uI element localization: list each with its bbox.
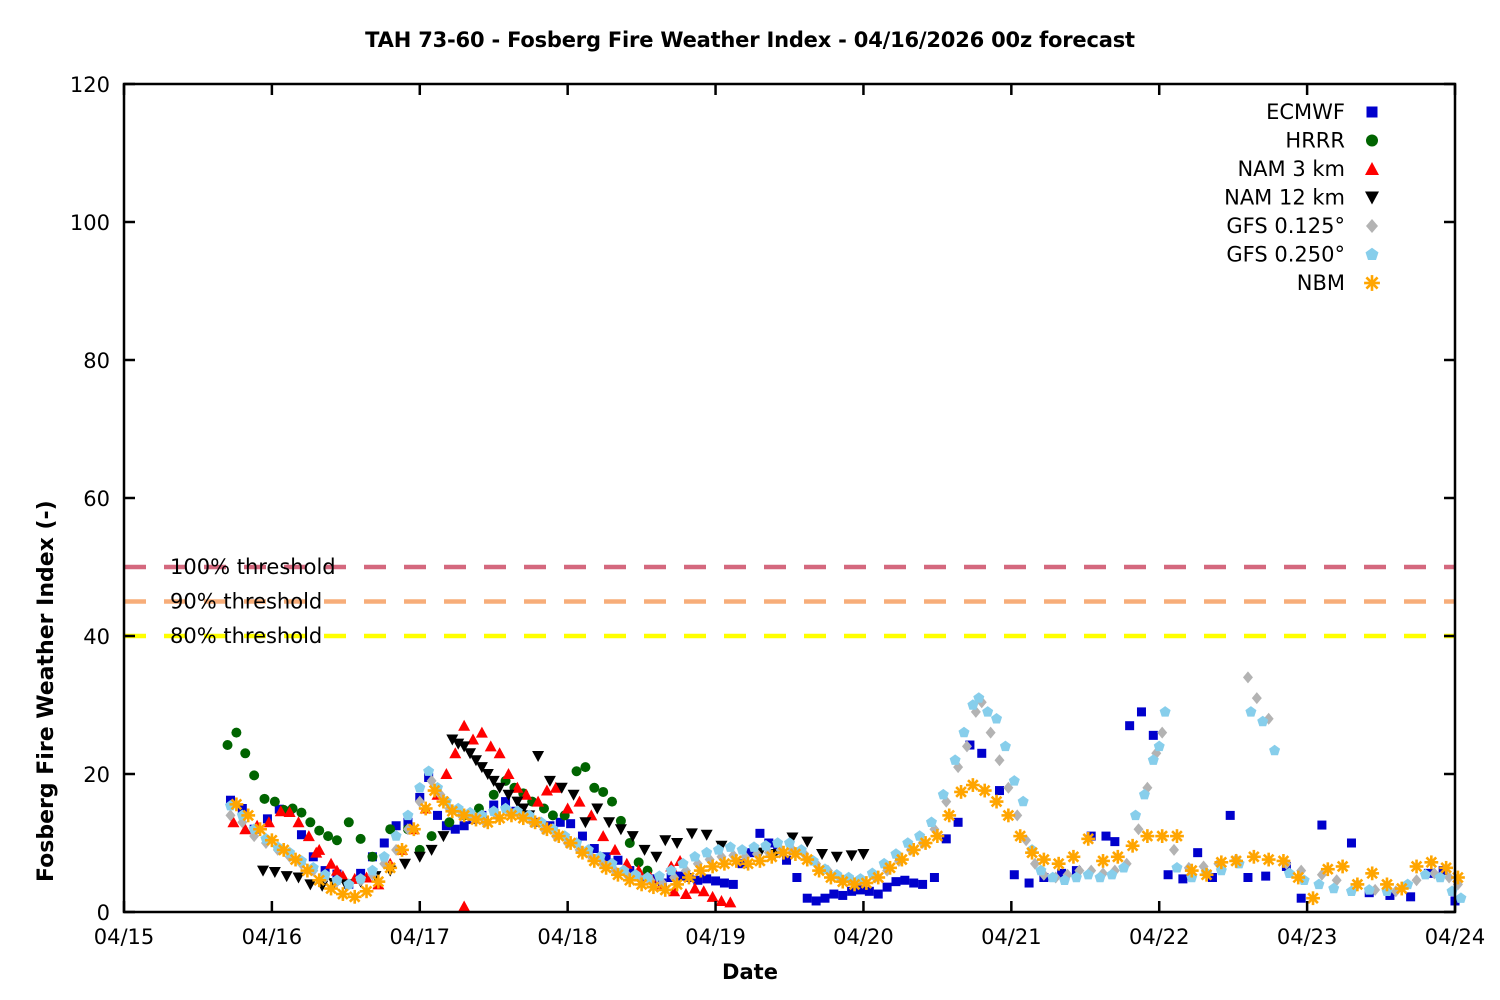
data-point [982,706,993,716]
data-point [587,854,601,868]
data-point [611,868,625,882]
data-point [1025,846,1039,860]
data-point [371,875,385,889]
x-tick-label: 04/21 [981,925,1042,949]
data-point [1155,829,1169,843]
data-point [505,809,519,823]
data-point [426,845,438,856]
legend-marker-pentagon-icon [1366,248,1379,260]
data-point [1395,882,1409,896]
data-point [1052,857,1066,871]
data-point [1277,854,1291,868]
x-tick-label: 04/24 [1425,925,1486,949]
data-point [1025,879,1034,888]
data-point [777,846,791,860]
data-point [1252,692,1262,704]
data-point [1170,829,1184,843]
data-point [1171,862,1182,872]
data-point [494,747,506,758]
data-point [1134,823,1144,835]
data-point [445,804,459,818]
data-point [812,896,821,905]
data-point [229,797,243,811]
data-point [895,853,909,867]
data-point [572,766,582,776]
data-point [1226,811,1235,820]
data-point [706,860,720,874]
data-point [414,782,425,792]
data-point [942,809,956,823]
data-point [671,838,683,849]
data-point [1243,671,1253,683]
data-point [741,857,755,871]
data-point [241,809,255,823]
data-point [1365,866,1379,880]
data-point [493,811,507,825]
data-point [1037,853,1051,867]
data-point [990,795,1004,809]
data-point [954,818,963,827]
data-point [900,876,909,885]
data-point [344,817,354,827]
legend-marker-asterisk-icon [1364,275,1380,291]
data-point [954,785,968,799]
data-point [231,728,241,738]
data-point [995,786,1004,795]
data-point [654,870,665,880]
legend-label-gfs-0-125: GFS 0.125° [1226,214,1345,238]
threshold-label-50: 100% threshold [170,555,336,579]
data-point [836,875,850,889]
data-point [1169,844,1179,856]
data-point [966,778,980,792]
data-point [635,878,649,892]
data-point [395,843,409,857]
legend-label-ecmwf: ECMWF [1266,100,1345,124]
data-point [666,865,677,875]
data-point [689,851,700,861]
data-point [670,878,684,892]
data-point [1193,848,1202,857]
data-point [437,831,449,842]
data-point [609,844,621,855]
data-point [428,784,442,798]
data-point [552,829,566,843]
data-point [1185,864,1199,878]
data-point [831,852,843,863]
data-point [348,890,362,904]
data-point [812,864,826,878]
data-point [724,896,736,907]
data-point [1261,872,1270,881]
data-point [360,884,374,898]
data-point [725,841,736,851]
data-point [1410,860,1424,874]
data-point [930,873,939,882]
x-tick-label: 04/16 [242,925,303,949]
legend-marker-triangle-up-icon [1365,162,1379,175]
data-point [701,830,713,841]
data-point [1178,874,1187,883]
data-point [293,816,305,827]
data-point [755,829,764,838]
data-point [599,861,613,875]
data-point [367,865,378,875]
data-point [973,692,984,702]
threshold-lines: 100% threshold90% threshold80% threshold [124,555,1455,648]
data-point [325,858,337,869]
data-point [312,873,326,887]
data-point [918,880,927,889]
data-point [566,819,575,828]
data-point [481,815,495,829]
data-point [460,821,469,830]
data-point [1245,706,1256,716]
data-point [803,894,812,903]
data-point [800,853,814,867]
data-point [1243,873,1252,882]
data-point [265,833,279,847]
data-point [356,834,366,844]
data-point [824,871,838,885]
data-point [1001,809,1015,823]
data-point [694,864,708,878]
data-point [223,740,233,750]
data-point [986,727,996,739]
legend-marker-diamond-icon [1366,219,1378,233]
data-point [603,817,615,828]
data-point [1000,741,1011,751]
data-point [647,880,661,894]
data-point [1126,839,1140,853]
data-point [816,849,828,860]
data-point [1412,874,1422,886]
data-point [576,846,590,860]
data-point [686,828,698,839]
data-point [336,887,350,901]
data-point [564,836,578,850]
data-point [503,768,515,779]
data-point [444,817,454,827]
y-tick-label: 0 [97,901,110,925]
data-point [701,847,712,857]
data-point [857,849,869,860]
data-point [737,844,748,854]
data-point [860,876,874,890]
data-point [1317,821,1326,830]
data-point [259,794,269,804]
data-point [419,802,433,816]
data-point [1010,870,1019,879]
data-point [707,891,719,902]
data-point [1364,884,1375,894]
data-point [540,822,554,836]
data-point [1297,894,1306,903]
data-point [414,852,426,863]
data-point [297,830,306,839]
data-point [257,866,269,877]
data-point [1164,870,1173,879]
data-point [1451,871,1465,885]
data-point [874,890,883,899]
data-point [907,843,921,857]
data-point [402,810,413,820]
data-point [1013,829,1027,843]
data-point [1262,853,1276,867]
data-point [423,765,434,775]
legend-label-hrrr: HRRR [1285,129,1345,153]
data-point [718,857,732,871]
data-point [680,888,692,899]
data-point [516,811,530,825]
data-point [682,871,696,885]
data-point [1229,854,1243,868]
data-point [711,876,720,885]
data-point [1406,892,1415,901]
data-point [820,894,829,903]
x-tick-label: 04/20 [833,925,894,949]
data-point [1347,839,1356,848]
data-point [977,749,986,758]
y-tick-label: 20 [83,763,110,787]
data-point [658,883,672,897]
data-point [991,713,1002,723]
y-tick-label: 40 [83,625,110,649]
data-point [469,813,483,827]
data-point [1214,855,1228,869]
data-point [1096,854,1110,868]
series-nbm [229,778,1464,905]
data-point [548,810,558,820]
data-point [772,837,783,847]
data-point [541,785,553,796]
data-point [1291,871,1305,885]
data-point [485,740,497,751]
data-point [1160,706,1171,716]
data-point [253,822,267,836]
data-point [919,836,933,850]
data-point [1157,727,1167,739]
legend-marker-triangle-down-icon [1365,192,1379,205]
data-point [427,831,437,841]
y-tick-label: 120 [70,73,110,97]
data-point [1200,868,1214,882]
data-point [698,885,710,896]
series-gfs-0-250 [225,692,1466,903]
data-point [458,720,470,731]
data-point [1110,837,1119,846]
data-point [615,824,627,835]
data-point [323,831,333,841]
data-point [958,727,969,737]
data-point [367,852,377,862]
data-point [765,850,779,864]
data-point [589,783,599,793]
data-point [607,797,617,807]
data-point [792,873,801,882]
data-point [883,861,897,875]
series-gfs-0-125 [225,671,1462,897]
data-point [476,727,488,738]
data-point [1313,879,1324,889]
threshold-label-45: 90% threshold [170,590,322,614]
data-point [1149,731,1158,740]
legend-marker-circle-icon [1366,135,1378,147]
data-point [597,830,609,841]
data-point [314,826,324,836]
x-tick-label: 04/23 [1277,925,1338,949]
y-tick-label: 60 [83,487,110,511]
legend-marker-square-icon [1367,107,1378,118]
plot-area: 100% threshold90% threshold80% threshold… [0,0,1500,1000]
data-point [1125,721,1134,730]
data-point [1439,861,1453,875]
data-point [269,867,281,878]
chart-page: TAH 73-60 - Fosberg Fire Weather Index -… [0,0,1500,1000]
y-tick-label: 100 [70,211,110,235]
data-point [950,754,961,764]
data-point [332,835,342,845]
data-point [289,853,303,867]
data-point [449,747,461,758]
legend-label-nbm: NBM [1297,271,1345,295]
data-point [281,871,293,882]
data-point [528,815,542,829]
data-point [729,880,738,889]
data-point [324,882,338,896]
x-tick-label: 04/17 [390,925,451,949]
data-point [1154,741,1165,751]
data-point [623,873,637,887]
data-point [838,891,847,900]
data-point [433,811,442,820]
data-point [580,762,590,772]
data-point [249,770,259,780]
threshold-label-40: 80% threshold [170,624,322,648]
data-point [789,847,803,861]
data-point [489,790,499,800]
data-point [639,845,651,856]
data-point [1111,850,1125,864]
data-point [1140,829,1154,843]
data-point [1455,892,1466,902]
data-point [380,839,389,848]
data-point [300,864,314,878]
data-point [1101,832,1110,841]
data-point [277,843,291,857]
data-point [1018,796,1029,806]
data-point [562,803,574,814]
legend-label-gfs-0-250: GFS 0.250° [1226,243,1345,267]
data-point [1321,862,1335,876]
data-point [883,883,892,892]
data-point [729,854,743,868]
data-point [399,859,411,870]
y-tick-label: 80 [83,349,110,373]
data-point [1130,810,1141,820]
legend-label-nam-3-km: NAM 3 km [1237,157,1345,181]
data-point [458,900,470,911]
legend-label-nam-12-km: NAM 12 km [1224,186,1345,210]
data-point [1424,855,1438,869]
data-point [270,797,280,807]
data-point [702,874,711,883]
data-point [848,878,862,892]
data-point [1009,775,1020,785]
data-point [650,852,662,863]
data-point [978,784,992,798]
data-point [383,861,397,875]
data-point [753,854,767,868]
data-point [407,822,421,836]
data-point [1380,878,1394,892]
data-point [1081,832,1095,846]
data-point [296,808,306,818]
x-tick-label: 04/15 [94,925,155,949]
data-point [871,871,885,885]
data-point [926,817,937,827]
x-tick-label: 04/19 [685,925,746,949]
data-point [457,809,471,823]
x-tick-label: 04/22 [1129,925,1190,949]
data-point [532,751,544,762]
data-point [440,768,452,779]
data-point [930,829,944,843]
data-point [846,850,858,861]
x-tick-label: 04/18 [537,925,598,949]
data-point [1247,850,1261,864]
data-point [659,835,671,846]
data-point [909,879,918,888]
data-point [829,890,838,899]
data-point [891,877,900,886]
data-point [748,841,759,851]
data-point [1137,707,1146,716]
data-point [1350,878,1364,892]
data-point [579,817,591,828]
data-point [379,851,390,861]
data-point [305,817,315,827]
data-point [720,879,729,888]
data-point [240,748,250,758]
data-point [995,754,1005,766]
data-point [1067,850,1081,864]
data-point [1336,860,1350,874]
data-point [1269,745,1280,755]
legend: ECMWFHRRRNAM 3 kmNAM 12 kmGFS 0.125°GFS … [1224,100,1380,295]
data-point [938,789,949,799]
data-point [598,787,608,797]
